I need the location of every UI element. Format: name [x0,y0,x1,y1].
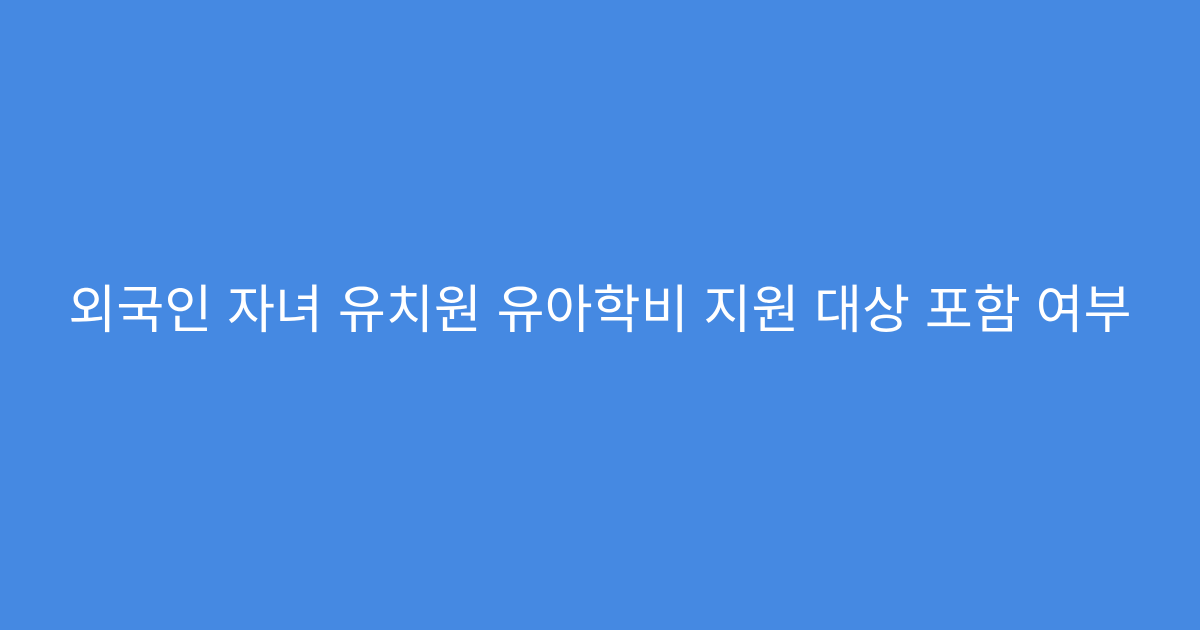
og-card: 외국인 자녀 유치원 유아학비 지원 대상 포함 여부 [0,0,1200,630]
page-title: 외국인 자녀 유치원 유아학비 지원 대상 포함 여부 [68,280,1131,343]
headline-container: 외국인 자녀 유치원 유아학비 지원 대상 포함 여부 [0,280,1200,343]
